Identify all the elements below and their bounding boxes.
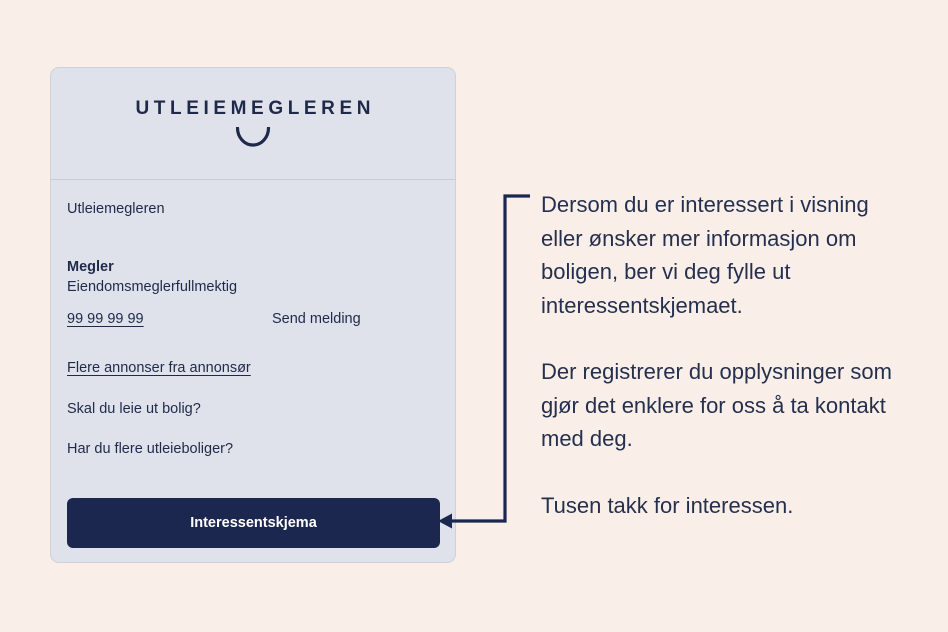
broker-name: Megler (67, 259, 439, 275)
broker-title: Eiendomsmeglerfullmektig (67, 279, 439, 295)
interest-form-button[interactable]: Interessentskjema (67, 498, 440, 548)
annotation-paragraph-1: Dersom du er interessert i visning eller… (541, 188, 911, 322)
broker-block: Megler Eiendomsmeglerfullmektig 99 99 99… (67, 259, 439, 327)
broker-contact-row: 99 99 99 99 Send melding (67, 311, 439, 327)
rent-out-property-link[interactable]: Skal du leie ut bolig? (67, 401, 439, 417)
brand-wordmark: UTLEIEMEGLEREN (51, 98, 455, 120)
card-logo-header: UTLEIEMEGLEREN (51, 68, 455, 180)
more-ads-from-advertiser-link[interactable]: Flere annonser fra annonsør (67, 360, 251, 376)
annotation-text-block: Dersom du er interessert i visning eller… (541, 188, 911, 522)
advertiser-links: Flere annonser fra annonsør Skal du leie… (67, 359, 439, 457)
annotation-paragraph-2: Der registrerer du opplysninger som gjør… (541, 355, 911, 456)
card-body: Utleiemegleren Megler Eiendomsmeglerfull… (51, 180, 455, 562)
send-message-link[interactable]: Send melding (272, 311, 361, 327)
agency-name: Utleiemegleren (67, 200, 439, 219)
agent-contact-card: UTLEIEMEGLEREN Utleiemegleren Megler Eie… (50, 67, 456, 563)
more-rental-properties-link[interactable]: Har du flere utleieboliger? (67, 441, 439, 457)
smile-arc-icon (51, 127, 455, 149)
annotation-paragraph-3: Tusen takk for interessen. (541, 489, 911, 523)
broker-phone-link[interactable]: 99 99 99 99 (67, 311, 272, 327)
